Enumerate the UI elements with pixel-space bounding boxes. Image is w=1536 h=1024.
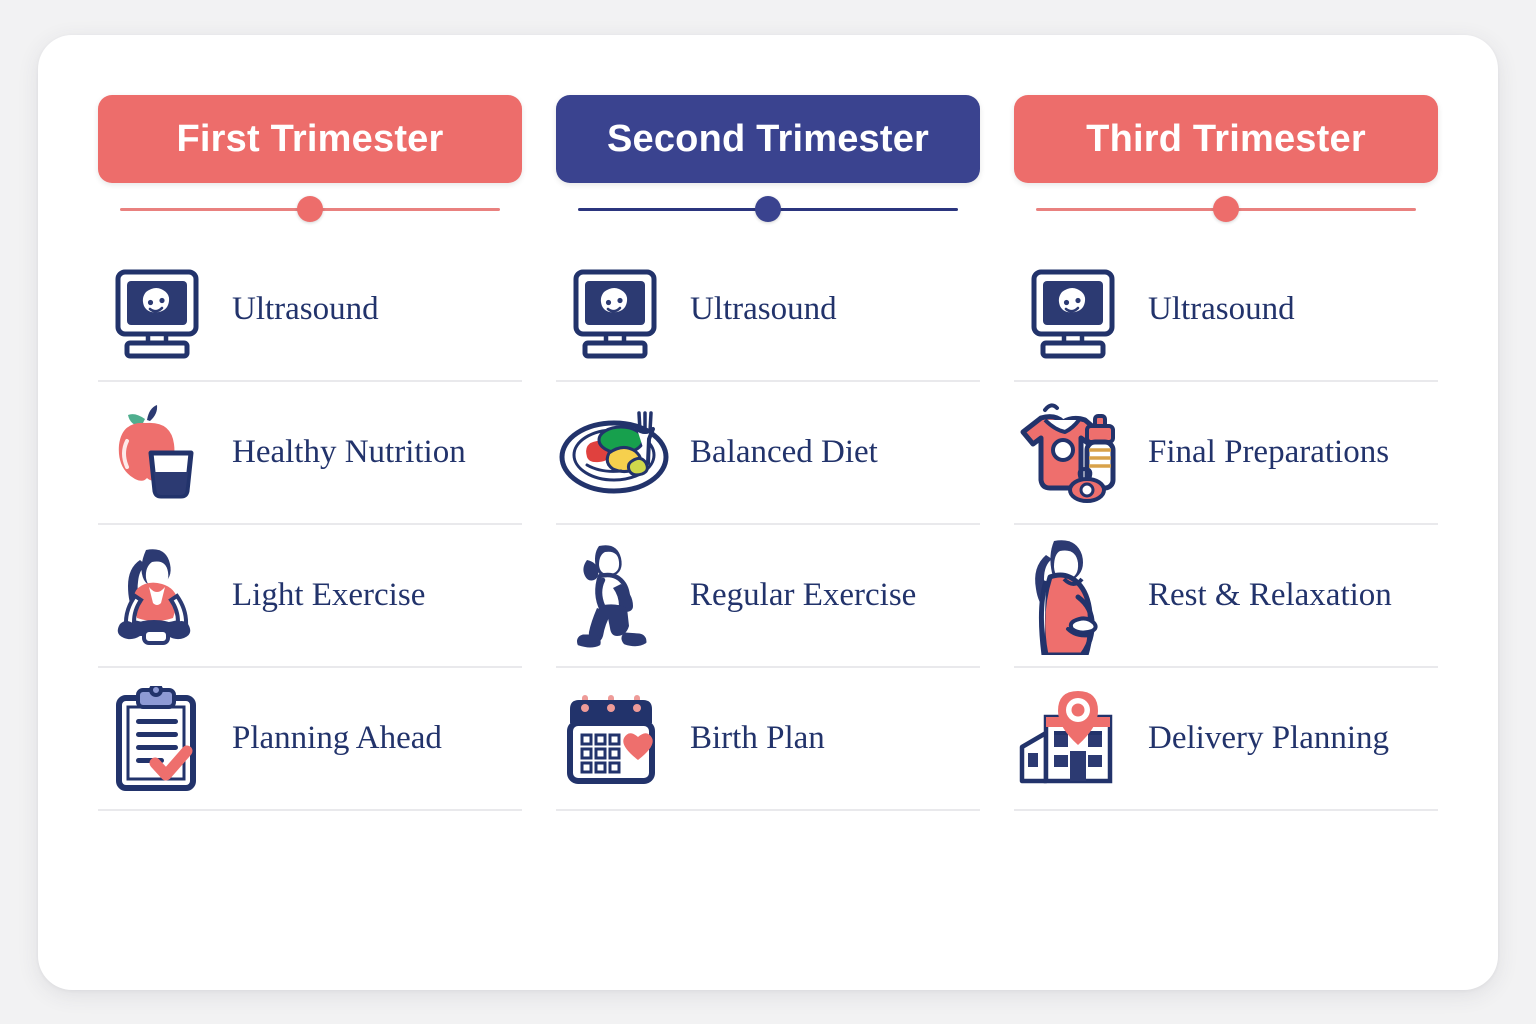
list-item[interactable]: Healthy Nutrition bbox=[98, 382, 522, 525]
trimester-columns: First Trimester bbox=[38, 35, 1498, 811]
column-third-trimester: Third Trimester bbox=[1014, 95, 1438, 811]
timeline-dot bbox=[755, 196, 781, 222]
list-item[interactable]: Regular Exercise bbox=[556, 525, 980, 668]
rows-third-trimester: Ultrasound bbox=[1014, 239, 1438, 811]
hospital-pin-icon bbox=[1014, 679, 1132, 799]
list-item[interactable]: Ultrasound bbox=[1014, 239, 1438, 382]
ultrasound-icon bbox=[98, 250, 216, 370]
list-item-label: Birth Plan bbox=[690, 720, 980, 756]
clipboard-check-icon bbox=[98, 679, 216, 799]
list-item[interactable]: Rest & Relaxation bbox=[1014, 525, 1438, 668]
list-item-label: Ultrasound bbox=[232, 291, 522, 327]
rows-first-trimester: Ultrasound bbox=[98, 239, 522, 811]
ultrasound-icon bbox=[556, 250, 674, 370]
list-item[interactable]: Balanced Diet bbox=[556, 382, 980, 525]
trimester-card: First Trimester bbox=[38, 35, 1498, 990]
list-item[interactable]: Ultrasound bbox=[556, 239, 980, 382]
timeline-first-trimester bbox=[98, 187, 522, 231]
list-item[interactable]: Ultrasound bbox=[98, 239, 522, 382]
rows-second-trimester: Ultrasound bbox=[556, 239, 980, 811]
timeline-second-trimester bbox=[556, 187, 980, 231]
plate-food-fork-icon bbox=[556, 393, 674, 513]
apple-water-icon bbox=[98, 393, 216, 513]
timeline-dot bbox=[297, 196, 323, 222]
list-item-label: Planning Ahead bbox=[232, 720, 522, 756]
list-item[interactable]: Final Preparations bbox=[1014, 382, 1438, 525]
list-item-label: Ultrasound bbox=[690, 291, 980, 327]
calendar-heart-icon bbox=[556, 679, 674, 799]
list-item[interactable]: Light Exercise bbox=[98, 525, 522, 668]
ultrasound-icon bbox=[1014, 250, 1132, 370]
pregnant-woman-icon bbox=[1014, 536, 1132, 656]
list-item-label: Healthy Nutrition bbox=[232, 434, 522, 470]
column-second-trimester: Second Trimester bbox=[556, 95, 980, 811]
list-item-label: Light Exercise bbox=[232, 577, 522, 613]
list-item-label: Final Preparations bbox=[1148, 434, 1438, 470]
timeline-third-trimester bbox=[1014, 187, 1438, 231]
list-item-label: Delivery Planning bbox=[1148, 720, 1438, 756]
list-item-label: Rest & Relaxation bbox=[1148, 577, 1438, 613]
list-item[interactable]: Planning Ahead bbox=[98, 668, 522, 811]
list-item[interactable]: Delivery Planning bbox=[1014, 668, 1438, 811]
header-second-trimester[interactable]: Second Trimester bbox=[556, 95, 980, 183]
infographic-page: First Trimester bbox=[0, 0, 1536, 1024]
yoga-lotus-icon bbox=[98, 536, 216, 656]
list-item-label: Regular Exercise bbox=[690, 577, 980, 613]
header-first-trimester[interactable]: First Trimester bbox=[98, 95, 522, 183]
column-first-trimester: First Trimester bbox=[98, 95, 522, 811]
timeline-dot bbox=[1213, 196, 1239, 222]
walking-woman-icon bbox=[556, 536, 674, 656]
onesie-bottle-icon bbox=[1014, 393, 1132, 513]
header-third-trimester[interactable]: Third Trimester bbox=[1014, 95, 1438, 183]
list-item[interactable]: Birth Plan bbox=[556, 668, 980, 811]
list-item-label: Ultrasound bbox=[1148, 291, 1438, 327]
list-item-label: Balanced Diet bbox=[690, 434, 980, 470]
